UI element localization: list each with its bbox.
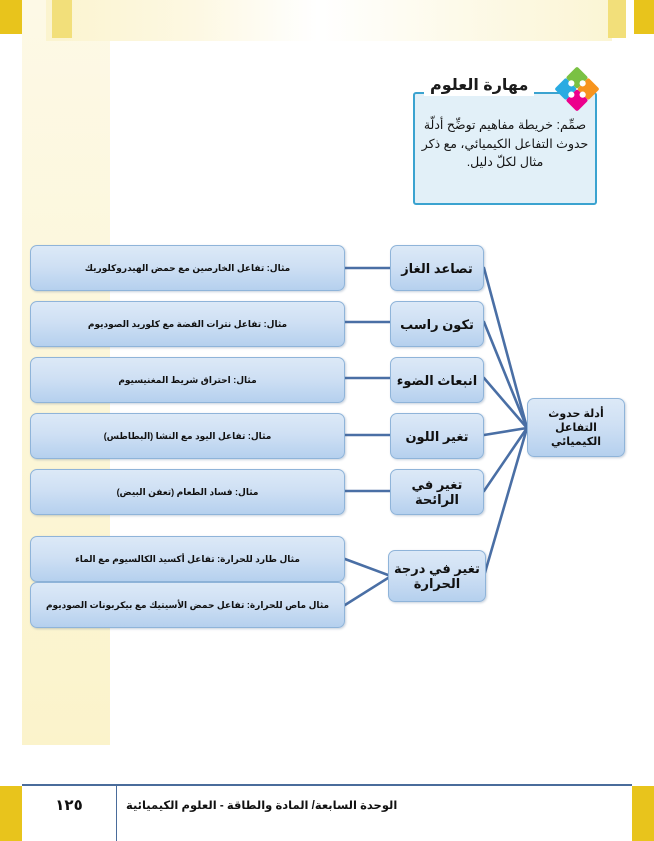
example-label: مثال ماص للحرارة: تفاعل حمض الأسيتيك مع … — [46, 599, 329, 611]
branch-box-light[interactable]: انبعاث الضوء — [390, 357, 484, 403]
branch-label: تكون راسب — [400, 317, 474, 332]
example-box-odor[interactable]: مثال: فساد الطعام (تعفن البيض) — [30, 469, 345, 515]
branch-box-color[interactable]: تغير اللون — [390, 413, 484, 459]
connector-branch-color — [484, 428, 527, 435]
connector-branch-odor — [484, 428, 527, 491]
footer-rule — [22, 784, 632, 786]
example-box-gas[interactable]: مثال: تفاعل الخارصين مع حمض الهيدروكلوري… — [30, 245, 345, 291]
header-accent-band — [46, 0, 612, 41]
footer-gold-right — [632, 786, 654, 841]
connector-branch-gas — [484, 268, 527, 428]
example-label: مثال: تفاعل الخارصين مع حمض الهيدروكلوري… — [85, 262, 290, 274]
skill-callout-body: صمِّم: خريطة مفاهيم توضِّح أدلّة حدوث ال… — [421, 116, 589, 172]
branch-label: تغير في الرائحة — [395, 477, 479, 507]
example-box-light[interactable]: مثال: احتراق شريط المغنيسيوم — [30, 357, 345, 403]
example-label: مثال: فساد الطعام (تعفن البيض) — [117, 486, 259, 498]
branch-box-temperature[interactable]: تغير في درجة الحرارة — [388, 550, 486, 602]
header-light-bar-left — [52, 0, 72, 38]
connector-branch-temperature — [484, 428, 527, 576]
example-box-color[interactable]: مثال: تفاعل اليود مع النشا (البطاطس) — [30, 413, 345, 459]
example-label: مثال: تفاعل نترات الفضة مع كلوريد الصودي… — [88, 318, 287, 330]
root-node-box[interactable]: أدلة حدوث التفاعل الكيميائي — [527, 398, 625, 457]
root-label: أدلة حدوث التفاعل الكيميائي — [532, 407, 620, 449]
example-box-precipitate[interactable]: مثال: تفاعل نترات الفضة مع كلوريد الصودي… — [30, 301, 345, 347]
footer-page-number: ١٢٥ — [22, 796, 116, 814]
page-canvas: مهارة العلوم صمِّم: خريطة مفاهيم توضِّح … — [0, 0, 654, 841]
connector-branch-light — [484, 378, 527, 428]
branch-label: تصاعد الغاز — [401, 261, 473, 276]
branch-box-odor[interactable]: تغير في الرائحة — [390, 469, 484, 515]
example-label: مثال: تفاعل اليود مع النشا (البطاطس) — [104, 430, 272, 442]
header-light-bar-right — [608, 0, 626, 38]
header-gold-bar-left — [0, 0, 22, 34]
example-label: مثال طارد للحرارة: تفاعل أكسيد الكالسيوم… — [75, 553, 300, 565]
branch-label: تغير اللون — [405, 429, 468, 444]
footer-divider — [116, 786, 117, 841]
branch-box-gas[interactable]: تصاعد الغاز — [390, 245, 484, 291]
connector-example-endothermic — [345, 578, 388, 605]
skill-callout-title: مهارة العلوم — [424, 76, 534, 96]
example-box-endothermic[interactable]: مثال ماص للحرارة: تفاعل حمض الأسيتيك مع … — [30, 582, 345, 628]
header-gold-bar-right — [634, 0, 654, 34]
puzzle-pieces-icon — [547, 62, 607, 116]
connector-branch-precipitate — [484, 322, 527, 428]
footer-unit-title: الوحدة السابعة/ المادة والطاقة - العلوم … — [126, 798, 622, 812]
branch-label: تغير في درجة الحرارة — [393, 561, 481, 591]
connector-example-exothermic — [345, 559, 388, 575]
example-box-exothermic[interactable]: مثال طارد للحرارة: تفاعل أكسيد الكالسيوم… — [30, 536, 345, 582]
branch-box-precipitate[interactable]: تكون راسب — [390, 301, 484, 347]
example-label: مثال: احتراق شريط المغنيسيوم — [118, 374, 256, 386]
footer-gold-left — [0, 786, 22, 841]
branch-label: انبعاث الضوء — [397, 373, 477, 388]
